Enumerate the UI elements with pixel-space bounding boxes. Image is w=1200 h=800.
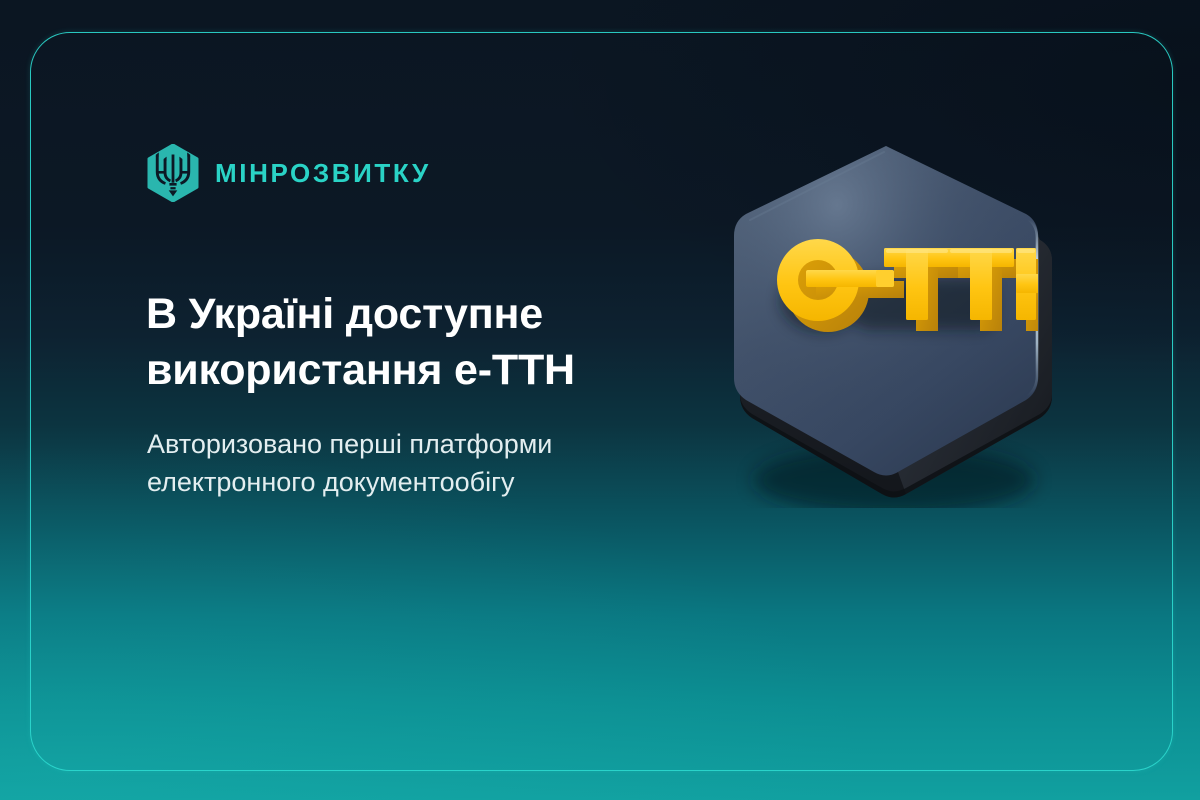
brand-wordmark: МІНРОЗВИТКУ [215, 160, 431, 186]
e-ttn-3d-hexagon-badge [726, 128, 1066, 508]
page-headline: В Україні доступне використання е-ТТН [146, 287, 766, 399]
brand-lockup: МІНРОЗВИТКУ [147, 144, 431, 202]
ukraine-trident-hexagon-icon [147, 144, 199, 202]
poster-canvas: МІНРОЗВИТКУ В Україні доступне використа… [0, 0, 1200, 800]
page-subtitle: Авторизовано перші платформи електронног… [147, 425, 767, 502]
